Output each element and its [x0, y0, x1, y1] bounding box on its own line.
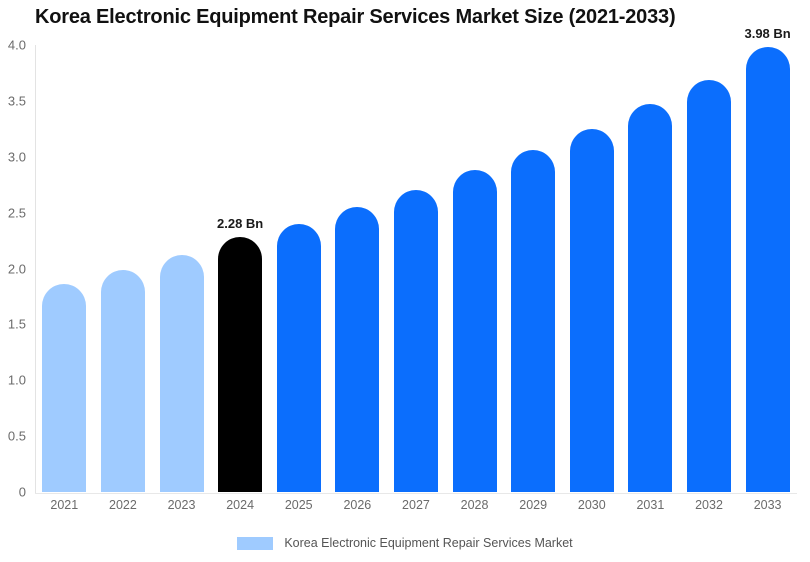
bar-band — [35, 45, 94, 492]
x-axis-tick-label: 2033 — [738, 498, 797, 512]
bar-2025[interactable] — [277, 224, 321, 492]
x-axis-tick-label: 2024 — [211, 498, 270, 512]
bar-series: 2.28 Bn3.98 Bn — [35, 45, 797, 492]
y-axis-tick-label: 3.5 — [8, 93, 35, 108]
chart-legend: Korea Electronic Equipment Repair Servic… — [0, 536, 810, 550]
bar-2032[interactable] — [687, 80, 731, 492]
bar-2026[interactable] — [335, 207, 379, 492]
x-axis-tick-label: 2026 — [328, 498, 387, 512]
x-axis-tick-label: 2032 — [680, 498, 739, 512]
x-axis-labels: 2021202220232024202520262027202820292030… — [35, 498, 797, 512]
bar-band — [445, 45, 504, 492]
x-axis-tick-label: 2027 — [387, 498, 446, 512]
y-axis-tick-label: 4.0 — [8, 38, 35, 53]
bar-2031[interactable] — [628, 104, 672, 492]
bar-band — [269, 45, 328, 492]
chart-container: Korea Electronic Equipment Repair Servic… — [0, 0, 810, 562]
plot-area: 00.51.01.52.02.53.03.54.0 2.28 Bn3.98 Bn — [35, 45, 797, 492]
y-axis-tick-label: 2.0 — [8, 261, 35, 276]
bar-2029[interactable] — [511, 150, 555, 492]
x-axis-tick-label: 2025 — [269, 498, 328, 512]
bar-2028[interactable] — [453, 170, 497, 492]
x-axis-tick-label: 2031 — [621, 498, 680, 512]
bar-band — [94, 45, 153, 492]
bar-band: 3.98 Bn — [738, 45, 797, 492]
x-axis-tick-label: 2022 — [94, 498, 153, 512]
bar-band — [152, 45, 211, 492]
bar-2023[interactable] — [160, 255, 204, 492]
y-axis-tick-label: 1.0 — [8, 373, 35, 388]
x-axis-tick-label: 2028 — [445, 498, 504, 512]
x-axis-tick-label: 2029 — [504, 498, 563, 512]
x-axis-line — [35, 493, 797, 494]
bar-2030[interactable] — [570, 129, 614, 492]
bar-2024[interactable]: 2.28 Bn — [218, 237, 262, 492]
y-axis-tick-label: 0.5 — [8, 429, 35, 444]
bar-band — [328, 45, 387, 492]
y-axis-tick-label: 0 — [19, 485, 35, 500]
legend-item-label: Korea Electronic Equipment Repair Servic… — [284, 536, 572, 550]
legend-swatch-icon — [237, 537, 273, 550]
x-axis-tick-label: 2023 — [152, 498, 211, 512]
bar-band — [621, 45, 680, 492]
y-axis-tick-label: 3.0 — [8, 149, 35, 164]
x-axis-tick-label: 2030 — [562, 498, 621, 512]
bar-2021[interactable] — [42, 284, 86, 492]
bar-band — [387, 45, 446, 492]
bar-band — [562, 45, 621, 492]
bar-2027[interactable] — [394, 190, 438, 492]
bar-band — [504, 45, 563, 492]
bar-band: 2.28 Bn — [211, 45, 270, 492]
x-axis-tick-label: 2021 — [35, 498, 94, 512]
bar-value-label: 2.28 Bn — [217, 216, 263, 231]
y-axis-tick-label: 1.5 — [8, 317, 35, 332]
bar-2022[interactable] — [101, 270, 145, 492]
bar-value-label: 3.98 Bn — [744, 26, 790, 41]
chart-title: Korea Electronic Equipment Repair Servic… — [35, 6, 675, 29]
bar-2033[interactable]: 3.98 Bn — [746, 47, 790, 492]
y-axis-tick-label: 2.5 — [8, 205, 35, 220]
bar-band — [680, 45, 739, 492]
